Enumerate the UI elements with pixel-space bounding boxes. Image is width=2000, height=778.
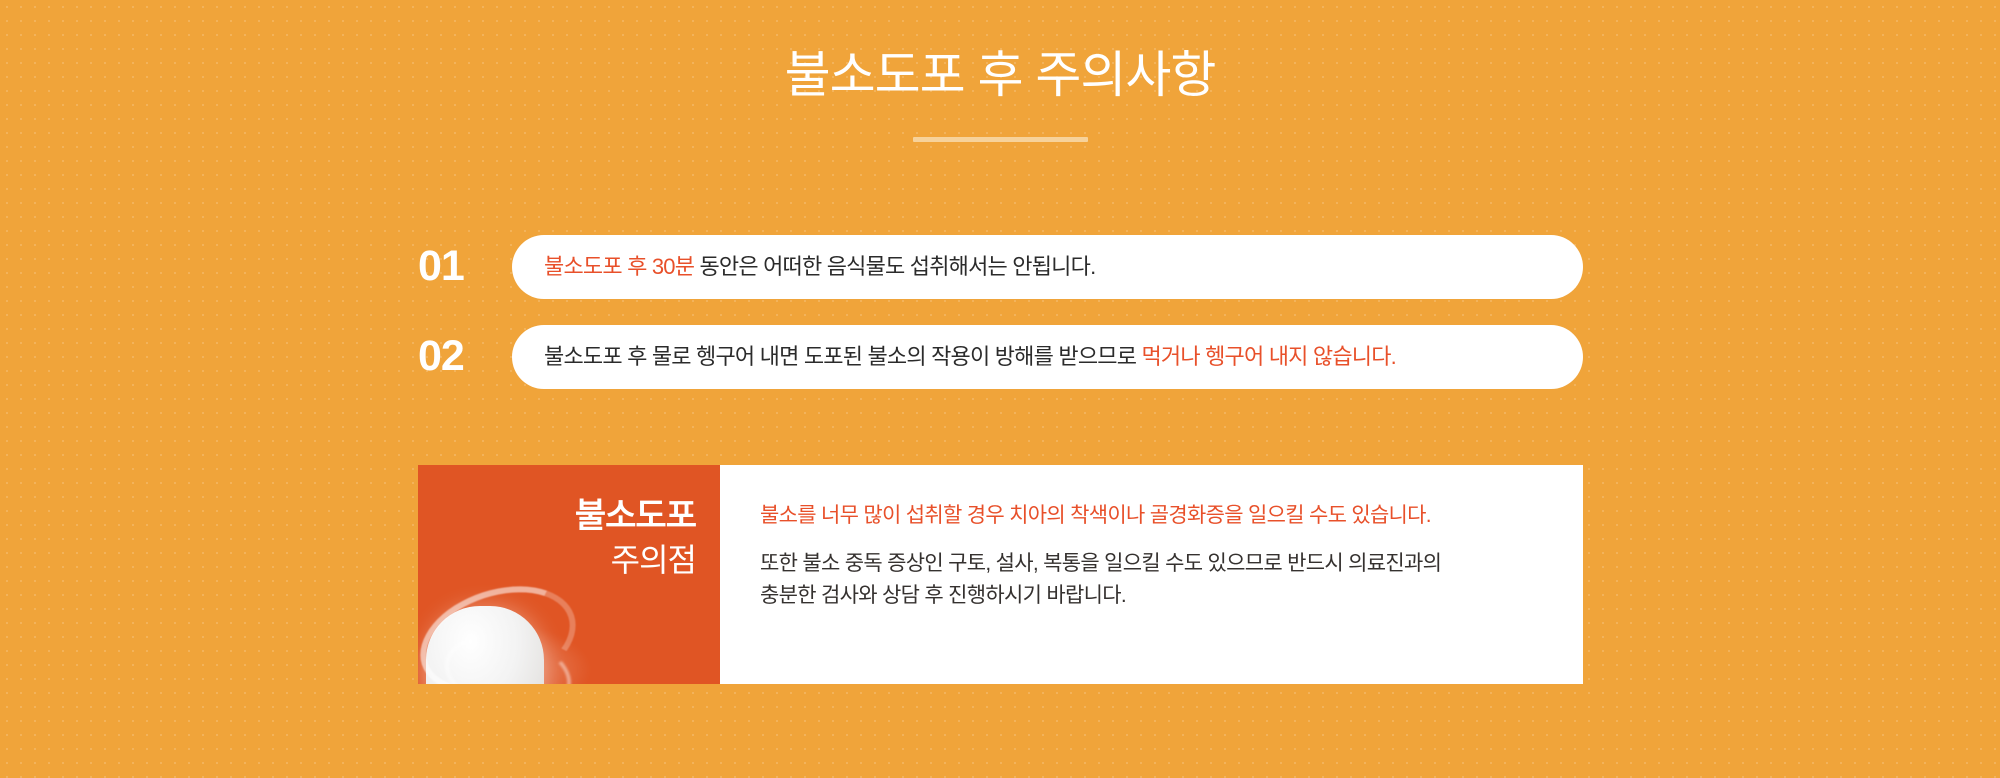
notice-list: 01 불소도포 후 30분 동안은 어떠한 음식물도 섭취해서는 안됩니다. 0…	[418, 235, 1583, 415]
notice-text-02: 불소도포 후 물로 헹구어 내면 도포된 불소의 작용이 방해를 받으므로 먹거…	[544, 346, 1396, 368]
title-section: 불소도포 후 주의사항	[0, 0, 2000, 142]
water-mist-icon	[418, 624, 592, 684]
notice-number-02: 02	[418, 324, 504, 388]
notice-highlight-02: 먹거나 헹구어 내지 않습니다.	[1141, 344, 1396, 369]
page-root: { "page": { "background_color": "#f0a43a…	[0, 0, 2000, 778]
water-splash-icon	[418, 568, 590, 684]
notice-row-02: 02 불소도포 후 물로 헹구어 내면 도포된 불소의 작용이 방해를 받으므로…	[418, 325, 1583, 389]
water-splash-secondary-icon	[437, 624, 578, 684]
callout-lead-text: 불소를 너무 많이 섭취할 경우 치아의 착색이나 골경화증을 일으킬 수도 있…	[760, 505, 1583, 526]
tooth-icon	[418, 534, 600, 684]
notice-highlight-01: 불소도포 후 30분	[544, 254, 694, 279]
notice-pill-01: 불소도포 후 30분 동안은 어떠한 음식물도 섭취해서는 안됩니다.	[512, 235, 1583, 299]
title-divider	[913, 137, 1088, 142]
notice-rest-02: 불소도포 후 물로 헹구어 내면 도포된 불소의 작용이 방해를 받으므로	[544, 344, 1141, 369]
callout-kicker: 불소도포	[575, 497, 696, 536]
page-title: 불소도포 후 주의사항	[0, 48, 2000, 103]
notice-rest-01: 동안은 어떠한 음식물도 섭취해서는 안됩니다.	[694, 254, 1095, 279]
notice-number-01: 01	[418, 234, 504, 298]
callout-card: 불소도포 주의점 불소를 너무 많이 섭취할 경우 치아의 착색이나 골경화증을…	[418, 465, 1583, 684]
callout-text-panel: 불소를 너무 많이 섭취할 경우 치아의 착색이나 골경화증을 일으킬 수도 있…	[720, 465, 1583, 684]
callout-body-line-2: 충분한 검사와 상담 후 진행하시기 바랍니다.	[760, 580, 1583, 612]
callout-heading-group: 불소도포 주의점	[575, 497, 696, 582]
tooth-body-icon	[426, 606, 544, 684]
notice-pill-02: 불소도포 후 물로 헹구어 내면 도포된 불소의 작용이 방해를 받으므로 먹거…	[512, 325, 1583, 389]
callout-subtitle: 주의점	[575, 540, 696, 582]
callout-image-panel: 불소도포 주의점	[418, 465, 720, 684]
notice-text-01: 불소도포 후 30분 동안은 어떠한 음식물도 섭취해서는 안됩니다.	[544, 256, 1095, 278]
callout-body-line-1: 또한 불소 중독 증상인 구토, 설사, 복통을 일으킬 수도 있으므로 반드시…	[760, 548, 1583, 580]
notice-row-01: 01 불소도포 후 30분 동안은 어떠한 음식물도 섭취해서는 안됩니다.	[418, 235, 1583, 299]
